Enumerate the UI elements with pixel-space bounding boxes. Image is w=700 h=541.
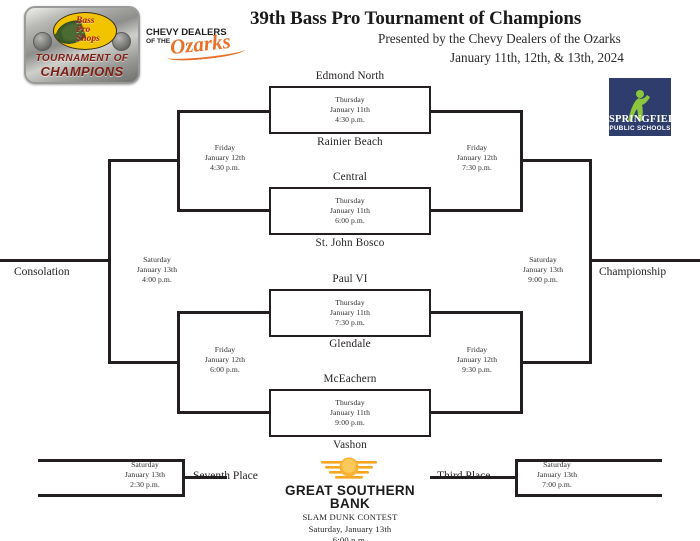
bass-pro-word-3: Shops (76, 35, 116, 45)
team-mceachern: McEachern (269, 373, 431, 385)
qf1-time: 4:30 p.m. (330, 115, 370, 125)
toc-tagline-line1: TOURNAMENT OF (26, 53, 138, 64)
cons-sf-bot-time: 6:00 p.m. (182, 365, 268, 375)
team-st-john-bosco: St. John Bosco (269, 237, 431, 249)
third-date: January 13th (522, 470, 592, 480)
slam-dunk-date: Saturday, January 13th (260, 524, 440, 536)
team-rainier-beach: Rainier Beach (269, 136, 431, 148)
round-label-champ-sf-top: Friday January 12th 7:30 p.m. (434, 143, 520, 173)
round-label-consolation-final: Saturday January 13th 4:00 p.m. (114, 255, 200, 285)
line-cons-sf-top-in2 (177, 209, 269, 212)
champ-final-time: 9:00 p.m. (500, 275, 586, 285)
page-title: 39th Bass Pro Tournament of Champions (250, 8, 581, 30)
springfield-public-schools-logo: SPRINGFIELD PUBLIC SCHOOLS (609, 78, 671, 136)
qf4-day: Thursday (330, 398, 370, 408)
qf1-date: January 11th (330, 105, 370, 115)
qf2-day: Thursday (330, 196, 370, 206)
cons-sf-top-day: Friday (182, 143, 268, 153)
line-seventh-in2 (38, 494, 185, 497)
game-box-qf1[interactable]: Thursday January 11th 4:30 p.m. (269, 86, 431, 134)
qf3-time: 7:30 p.m. (330, 318, 370, 328)
champ-sf-top-time: 7:30 p.m. (434, 163, 520, 173)
line-champ-sf-bot-in2 (431, 411, 523, 414)
line-champ-sf-bot-out (520, 361, 592, 364)
line-cons-sf-top-in1 (177, 110, 269, 113)
line-cons-sf-bot-in2 (177, 411, 269, 414)
presented-by-line: Presented by the Chevy Dealers of the Oz… (378, 31, 621, 47)
toc-tagline-line2: CHAMPIONS (26, 64, 138, 79)
slam-dunk-title: SLAM DUNK CONTEST (260, 512, 440, 524)
champ-final-day: Saturday (500, 255, 586, 265)
line-cons-sf-top-out (108, 159, 180, 162)
line-champ-final-out (589, 259, 700, 262)
game-box-qf2[interactable]: Thursday January 11th 6:00 p.m. (269, 187, 431, 235)
line-cons-final-out (0, 259, 111, 262)
great-southern-sun-icon (319, 455, 379, 481)
qf2-time: 6:00 p.m. (330, 216, 370, 226)
cons-final-time: 4:00 p.m. (114, 275, 200, 285)
line-champ-sf-bot-in1 (431, 311, 523, 314)
seventh-day: Saturday (110, 460, 180, 470)
team-paul-vi: Paul VI (269, 273, 431, 285)
round-label-champ-sf-bottom: Friday January 12th 9:30 p.m. (434, 345, 520, 375)
qf1-day: Thursday (330, 95, 370, 105)
seventh-time: 2:30 p.m. (110, 480, 180, 490)
qf3-day: Thursday (330, 298, 370, 308)
tournament-dates: January 11th, 12th, & 13th, 2024 (450, 50, 624, 66)
seventh-date: January 13th (110, 470, 180, 480)
cons-final-date: January 13th (114, 265, 200, 275)
tournament-bracket-page: 39th Bass Pro Tournament of Champions Pr… (0, 0, 700, 541)
game-info-qf1: Thursday January 11th 4:30 p.m. (330, 95, 370, 125)
line-cons-sf-bot-out (108, 361, 180, 364)
cons-sf-bot-day: Friday (182, 345, 268, 355)
champ-final-date: January 13th (500, 265, 586, 275)
bass-pro-oval: Bass Pro Shops (53, 12, 117, 50)
slam-dunk-contest-info: SLAM DUNK CONTEST Saturday, January 13th… (260, 512, 440, 541)
champ-sf-bot-time: 9:30 p.m. (434, 365, 520, 375)
cons-sf-top-time: 4:30 p.m. (182, 163, 268, 173)
qf4-date: January 11th (330, 408, 370, 418)
third-time: 7:00 p.m. (522, 480, 592, 490)
qf2-date: January 11th (330, 206, 370, 216)
game-box-qf3[interactable]: Thursday January 11th 7:30 p.m. (269, 289, 431, 337)
champ-sf-bot-day: Friday (434, 345, 520, 355)
logo-rivet-left (33, 32, 52, 51)
round-label-championship-final: Saturday January 13th 9:00 p.m. (500, 255, 586, 285)
third-place-label: Third Place (437, 470, 490, 482)
seventh-place-label: Seventh Place (193, 470, 258, 482)
team-edmond-north: Edmond North (269, 70, 431, 82)
qf3-date: January 11th (330, 308, 370, 318)
champ-sf-bot-date: January 12th (434, 355, 520, 365)
team-central: Central (269, 171, 431, 183)
cons-final-day: Saturday (114, 255, 200, 265)
round-label-third-place: Saturday January 13th 7:00 p.m. (522, 460, 592, 490)
game-info-qf3: Thursday January 11th 7:30 p.m. (330, 298, 370, 328)
champ-sf-top-date: January 12th (434, 153, 520, 163)
line-champ-sf-top-out (520, 159, 592, 162)
line-champ-sf-top-in2 (431, 209, 523, 212)
line-cons-sf-bot-in1 (177, 311, 269, 314)
round-label-cons-sf-top: Friday January 12th 4:30 p.m. (182, 143, 268, 173)
line-third-in2 (515, 494, 662, 497)
cons-sf-top-date: January 12th (182, 153, 268, 163)
game-box-qf4[interactable]: Thursday January 11th 9:00 p.m. (269, 389, 431, 437)
chevy-dealers-line2: OF THE (146, 38, 170, 45)
game-info-qf4: Thursday January 11th 9:00 p.m. (330, 398, 370, 428)
bass-pro-shops-logo: Bass Pro Shops TOURNAMENT OF CHAMPIONS (24, 6, 140, 84)
champ-sf-top-day: Friday (434, 143, 520, 153)
slam-dunk-time: 6:00 p.m. (260, 535, 440, 541)
third-day: Saturday (522, 460, 592, 470)
gsb-name-line2: BANK (270, 496, 430, 511)
round-label-cons-sf-bottom: Friday January 12th 6:00 p.m. (182, 345, 268, 375)
sps-sub-text: PUBLIC SCHOOLS (609, 125, 671, 132)
consolation-label: Consolation (14, 266, 70, 278)
team-glendale: Glendale (269, 338, 431, 350)
line-champ-sf-top-in1 (431, 110, 523, 113)
game-info-qf2: Thursday January 11th 6:00 p.m. (330, 196, 370, 226)
team-vashon: Vashon (269, 439, 431, 451)
qf4-time: 9:00 p.m. (330, 418, 370, 428)
sps-name-text: SPRINGFIELD (609, 114, 671, 125)
championship-label: Championship (599, 266, 666, 278)
round-label-seventh-place: Saturday January 13th 2:30 p.m. (110, 460, 180, 490)
cons-sf-bot-date: January 12th (182, 355, 268, 365)
